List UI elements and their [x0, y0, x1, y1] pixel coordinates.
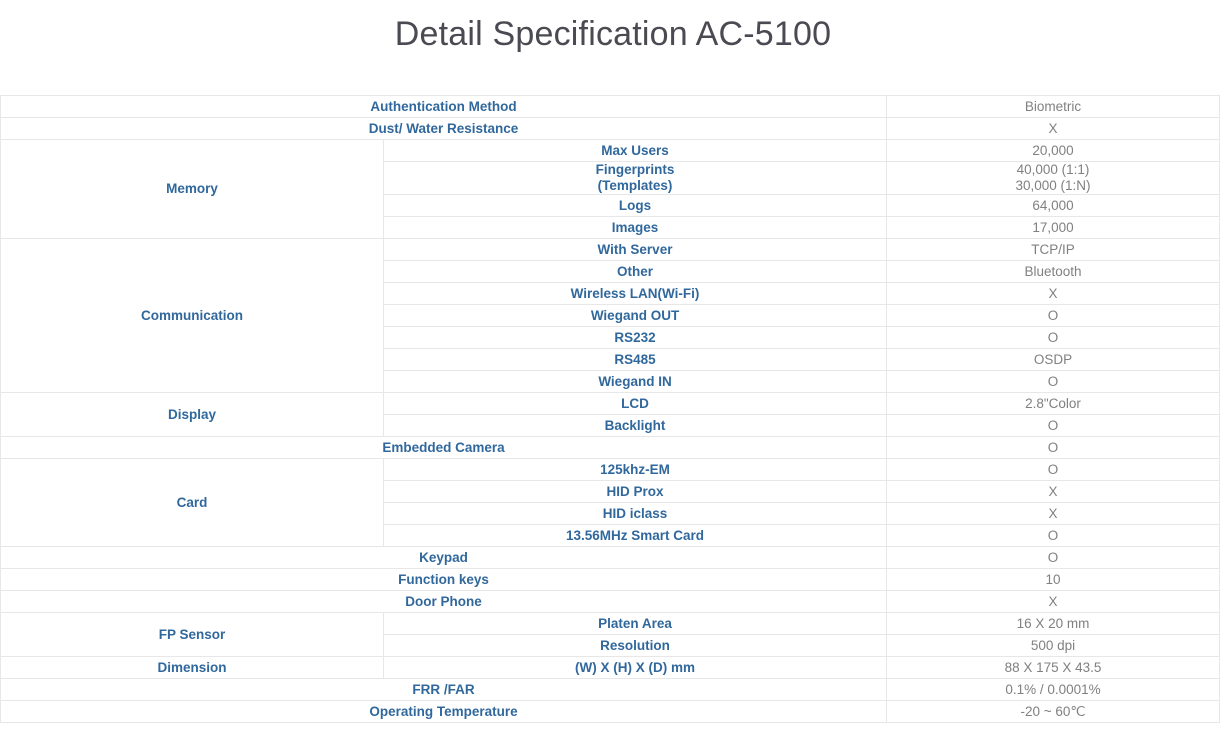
spec-item-embedded-camera: Embedded Camera — [1, 437, 887, 459]
table-row: Embedded Camera O — [1, 437, 1220, 459]
specification-table-container: Authentication Method Biometric Dust/ Wa… — [0, 95, 1226, 723]
spec-item-door-phone: Door Phone — [1, 591, 887, 613]
table-row: Card 125khz-EM O — [1, 459, 1220, 481]
spec-value-rs485: OSDP — [887, 349, 1220, 371]
spec-group-card: Card — [1, 459, 384, 547]
spec-item-function-keys: Function keys — [1, 569, 887, 591]
spec-item-125khz-em: 125khz-EM — [384, 459, 887, 481]
spec-value-resolution: 500 dpi — [887, 635, 1220, 657]
spec-item-lcd: LCD — [384, 393, 887, 415]
table-row: Dust/ Water Resistance X — [1, 118, 1220, 140]
spec-group-display: Display — [1, 393, 384, 437]
spec-value-whd-mm: 88 X 175 X 43.5 — [887, 657, 1220, 679]
spec-value-door-phone: X — [887, 591, 1220, 613]
spec-item-rs232: RS232 — [384, 327, 887, 349]
specification-table: Authentication Method Biometric Dust/ Wa… — [0, 95, 1220, 723]
spec-value-operating-temperature: -20 ~ 60℃ — [887, 701, 1220, 723]
spec-item-hid-prox: HID Prox — [384, 481, 887, 503]
spec-value-logs: 64,000 — [887, 195, 1220, 217]
spec-value-function-keys: 10 — [887, 569, 1220, 591]
spec-value-images: 17,000 — [887, 217, 1220, 239]
spec-value-fingerprints-line2: 30,000 (1:N) — [893, 178, 1213, 194]
spec-value-rs232: O — [887, 327, 1220, 349]
table-row: Memory Max Users 20,000 — [1, 140, 1220, 162]
spec-group-fp-sensor: FP Sensor — [1, 613, 384, 657]
spec-value-lcd: 2.8"Color — [887, 393, 1220, 415]
spec-value-wiegand-out: O — [887, 305, 1220, 327]
table-row: FP Sensor Platen Area 16 X 20 mm — [1, 613, 1220, 635]
spec-value-other: Bluetooth — [887, 261, 1220, 283]
spec-item-keypad: Keypad — [1, 547, 887, 569]
spec-value-max-users: 20,000 — [887, 140, 1220, 162]
spec-item-backlight: Backlight — [384, 415, 887, 437]
spec-item-frr-far: FRR /FAR — [1, 679, 887, 701]
spec-item-wiegand-out: Wiegand OUT — [384, 305, 887, 327]
spec-value-dust-water-resistance: X — [887, 118, 1220, 140]
spec-value-with-server: TCP/IP — [887, 239, 1220, 261]
page-title: Detail Specification AC-5100 — [0, 0, 1226, 56]
spec-item-fingerprints-line2: (Templates) — [390, 178, 880, 194]
table-row: Door Phone X — [1, 591, 1220, 613]
table-row: Display LCD 2.8"Color — [1, 393, 1220, 415]
table-row: FRR /FAR 0.1% / 0.0001% — [1, 679, 1220, 701]
table-row: Keypad O — [1, 547, 1220, 569]
spec-group-communication: Communication — [1, 239, 384, 393]
spec-item-with-server: With Server — [384, 239, 887, 261]
spec-item-smart-card: 13.56MHz Smart Card — [384, 525, 887, 547]
spec-item-whd-mm: (W) X (H) X (D) mm — [384, 657, 887, 679]
spec-value-frr-far: 0.1% / 0.0001% — [887, 679, 1220, 701]
spec-item-max-users: Max Users — [384, 140, 887, 162]
spec-value-fingerprints-line1: 40,000 (1:1) — [893, 162, 1213, 178]
spec-value-embedded-camera: O — [887, 437, 1220, 459]
table-row: Operating Temperature -20 ~ 60℃ — [1, 701, 1220, 723]
spec-item-logs: Logs — [384, 195, 887, 217]
spec-item-rs485: RS485 — [384, 349, 887, 371]
table-row: Communication With Server TCP/IP — [1, 239, 1220, 261]
spec-value-smart-card: O — [887, 525, 1220, 547]
spec-item-fingerprints-templates: Fingerprints (Templates) — [384, 162, 887, 195]
table-row: Dimension (W) X (H) X (D) mm 88 X 175 X … — [1, 657, 1220, 679]
spec-value-hid-iclass: X — [887, 503, 1220, 525]
spec-value-platen-area: 16 X 20 mm — [887, 613, 1220, 635]
spec-item-resolution: Resolution — [384, 635, 887, 657]
spec-group-memory: Memory — [1, 140, 384, 239]
spec-value-hid-prox: X — [887, 481, 1220, 503]
table-row: Authentication Method Biometric — [1, 96, 1220, 118]
spec-item-wireless-lan: Wireless LAN(Wi-Fi) — [384, 283, 887, 305]
spec-item-other: Other — [384, 261, 887, 283]
spec-group-dimension: Dimension — [1, 657, 384, 679]
spec-value-wireless-lan: X — [887, 283, 1220, 305]
table-row: Function keys 10 — [1, 569, 1220, 591]
spec-value-125khz-em: O — [887, 459, 1220, 481]
spec-item-platen-area: Platen Area — [384, 613, 887, 635]
spec-item-authentication-method: Authentication Method — [1, 96, 887, 118]
spec-item-wiegand-in: Wiegand IN — [384, 371, 887, 393]
spec-value-authentication-method: Biometric — [887, 96, 1220, 118]
spec-item-hid-iclass: HID iclass — [384, 503, 887, 525]
spec-item-images: Images — [384, 217, 887, 239]
spec-item-fingerprints-line1: Fingerprints — [390, 162, 880, 178]
spec-value-backlight: O — [887, 415, 1220, 437]
spec-value-wiegand-in: O — [887, 371, 1220, 393]
spec-value-fingerprints-templates: 40,000 (1:1) 30,000 (1:N) — [887, 162, 1220, 195]
spec-item-dust-water-resistance: Dust/ Water Resistance — [1, 118, 887, 140]
spec-value-keypad: O — [887, 547, 1220, 569]
spec-item-operating-temperature: Operating Temperature — [1, 701, 887, 723]
